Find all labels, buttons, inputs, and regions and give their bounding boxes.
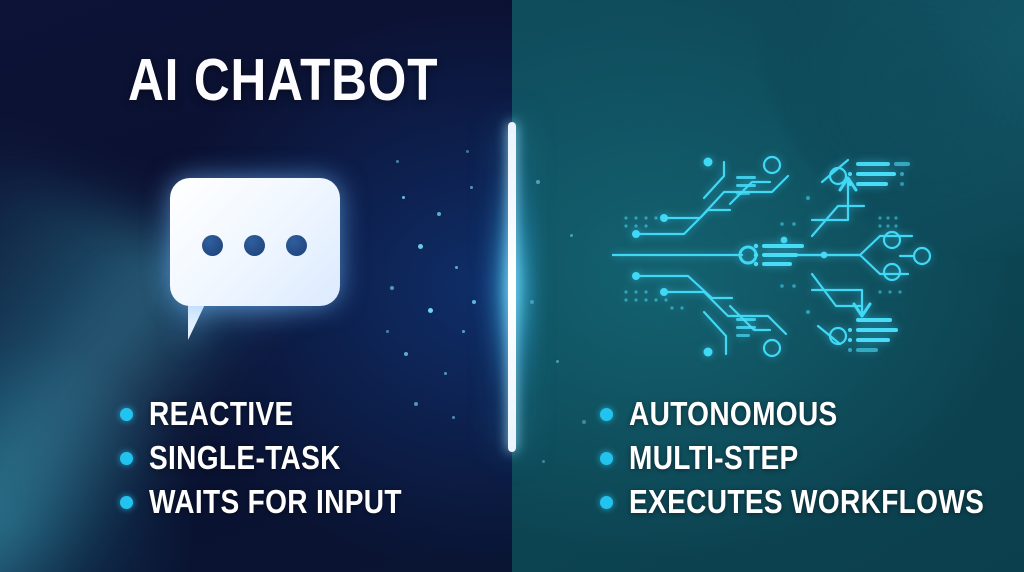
bullet-dot-icon [120, 496, 133, 509]
page-title-left: AI CHATBOT [128, 46, 438, 114]
typing-dot-3 [286, 235, 307, 256]
list-item: WAITS FOR INPUT [120, 480, 447, 524]
list-item-label: REACTIVE [149, 395, 294, 433]
list-item-label: EXECUTES WORKFLOWS [629, 483, 984, 521]
bullet-dot-icon [600, 408, 613, 421]
feature-list-right: AUTONOMOUS MULTI-STEP EXECUTES WORKFLOWS [600, 392, 1024, 524]
comparison-infographic: AI CHATBOT REACTIVE SINGLE-TASK WAITS FO… [0, 0, 1024, 572]
typing-dot-2 [244, 235, 265, 256]
list-item: SINGLE-TASK [120, 436, 447, 480]
circuit-network-icon [612, 140, 932, 370]
chat-bubble-icon [170, 178, 340, 338]
list-item: MULTI-STEP [600, 436, 1024, 480]
feature-list-left: REACTIVE SINGLE-TASK WAITS FOR INPUT [120, 392, 447, 524]
list-item: REACTIVE [120, 392, 447, 436]
list-item-label: WAITS FOR INPUT [149, 483, 402, 521]
bullet-dot-icon [120, 408, 133, 421]
list-item: AUTONOMOUS [600, 392, 1024, 436]
typing-dot-1 [202, 235, 223, 256]
left-panel-ai-chatbot: AI CHATBOT REACTIVE SINGLE-TASK WAITS FO… [0, 0, 512, 572]
bullet-dot-icon [120, 452, 133, 465]
list-item-label: MULTI-STEP [629, 439, 799, 477]
vertical-divider-bar [508, 122, 516, 452]
list-item-label: SINGLE-TASK [149, 439, 341, 477]
list-item-label: AUTONOMOUS [629, 395, 838, 433]
chat-bubble-body [170, 178, 340, 306]
bullet-dot-icon [600, 452, 613, 465]
bullet-dot-icon [600, 496, 613, 509]
list-item: EXECUTES WORKFLOWS [600, 480, 1024, 524]
